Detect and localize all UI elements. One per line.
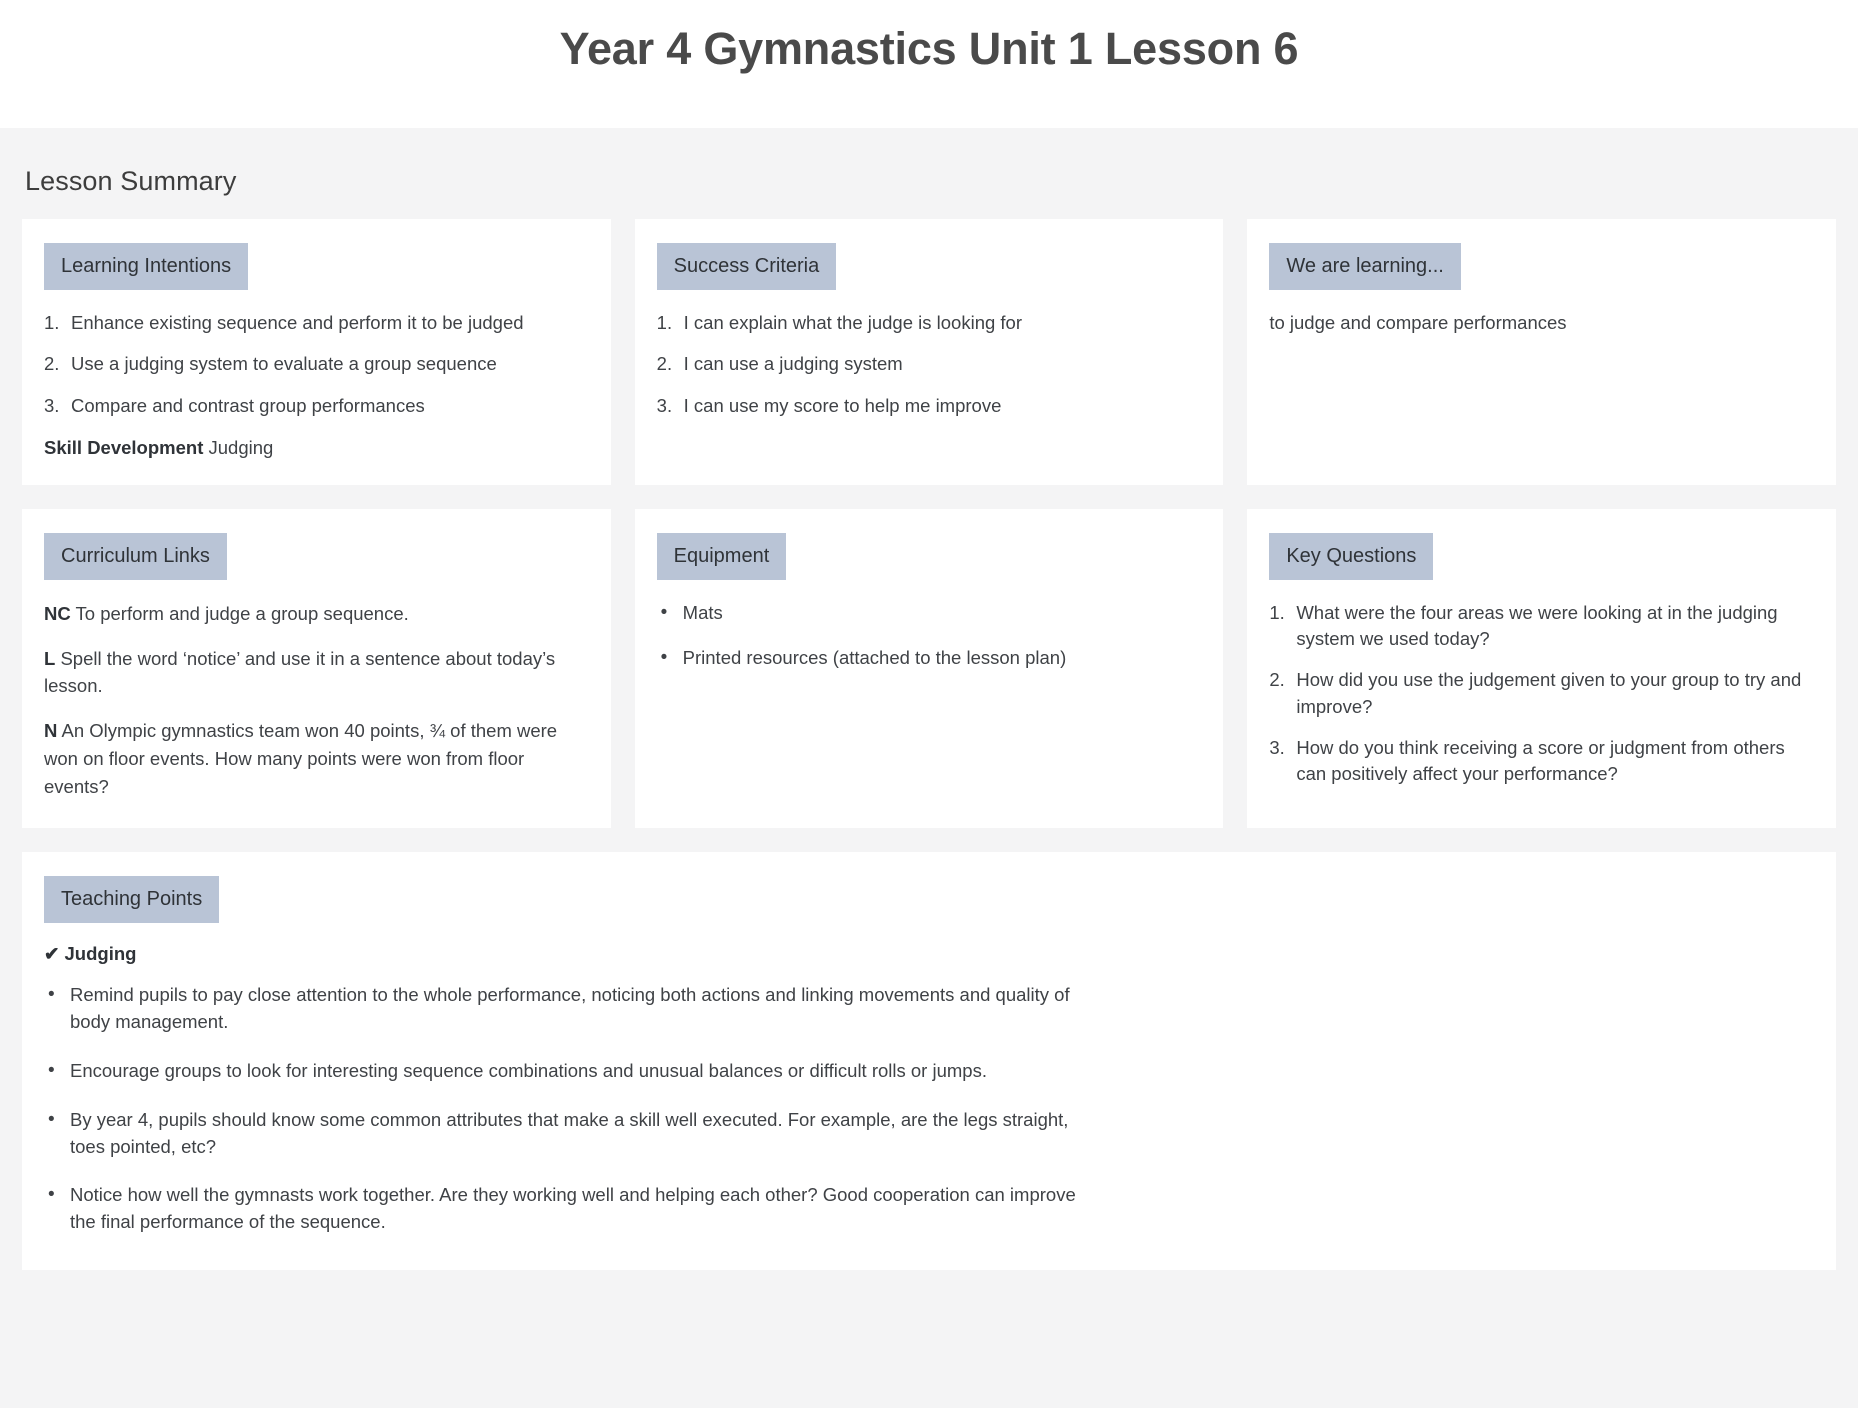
list-item: 2. I can use a judging system <box>657 351 1202 377</box>
list-text: What were the four areas we were looking… <box>1296 602 1777 649</box>
we-are-learning-text: to judge and compare performances <box>1269 310 1814 337</box>
page-title: Year 4 Gymnastics Unit 1 Lesson 6 <box>0 22 1858 76</box>
key-questions-label: Key Questions <box>1269 533 1433 580</box>
we-are-learning-label: We are learning... <box>1269 243 1461 290</box>
list-item: 3. I can use my score to help me improve <box>657 393 1202 419</box>
curriculum-link-text: Spell the word ‘notice’ and use it in a … <box>44 648 555 697</box>
key-questions-list: 1. What were the four areas we were look… <box>1269 600 1814 788</box>
learning-intentions-list: 1. Enhance existing sequence and perform… <box>44 310 589 419</box>
card-key-questions: Key Questions 1. What were the four area… <box>1247 509 1836 829</box>
curriculum-link-text: To perform and judge a group sequence. <box>76 603 409 624</box>
list-text: How do you think receiving a score or ju… <box>1296 737 1784 784</box>
list-item: 3. Compare and contrast group performanc… <box>44 393 589 419</box>
list-item: Remind pupils to pay close attention to … <box>44 982 1084 1036</box>
page-header: Year 4 Gymnastics Unit 1 Lesson 6 <box>0 0 1858 128</box>
list-number: 3. <box>1269 735 1284 761</box>
list-text: Enhance existing sequence and perform it… <box>71 312 524 333</box>
list-number: 3. <box>44 393 59 419</box>
list-item: Printed resources (attached to the lesso… <box>657 645 1202 672</box>
list-item: By year 4, pupils should know some commo… <box>44 1107 1084 1161</box>
list-number: 2. <box>657 351 672 377</box>
list-number: 1. <box>657 310 672 336</box>
learning-intentions-label: Learning Intentions <box>44 243 248 290</box>
skill-development-value: Judging <box>209 437 274 458</box>
curriculum-links-label: Curriculum Links <box>44 533 227 580</box>
list-item: Notice how well the gymnasts work togeth… <box>44 1182 1084 1236</box>
list-item: 1. What were the four areas we were look… <box>1269 600 1814 653</box>
list-text: Compare and contrast group performances <box>71 395 425 416</box>
card-success-criteria: Success Criteria 1. I can explain what t… <box>635 219 1224 485</box>
list-number: 1. <box>44 310 59 336</box>
check-icon: ✔ <box>44 943 60 964</box>
list-item: 2. Use a judging system to evaluate a gr… <box>44 351 589 377</box>
list-item: 3. How do you think receiving a score or… <box>1269 735 1814 788</box>
equipment-label: Equipment <box>657 533 787 580</box>
list-text: I can use a judging system <box>684 353 903 374</box>
curriculum-link-item: L Spell the word ‘notice’ and use it in … <box>44 645 589 701</box>
list-item: 1. Enhance existing sequence and perform… <box>44 310 589 336</box>
summary-grid-row-1: Learning Intentions 1. Enhance existing … <box>22 219 1836 485</box>
list-number: 1. <box>1269 600 1284 626</box>
lesson-summary-section: Lesson Summary Learning Intentions 1. En… <box>0 128 1858 1408</box>
list-number: 3. <box>657 393 672 419</box>
curriculum-link-text: An Olympic gymnastics team won 40 points… <box>44 720 557 797</box>
list-item: 2. How did you use the judgement given t… <box>1269 667 1814 720</box>
card-curriculum-links: Curriculum Links NC To perform and judge… <box>22 509 611 829</box>
list-item: 1. I can explain what the judge is looki… <box>657 310 1202 336</box>
skill-development-label: Skill Development <box>44 437 203 458</box>
skill-development-line: Skill Development Judging <box>44 437 589 459</box>
success-criteria-label: Success Criteria <box>657 243 837 290</box>
card-we-are-learning: We are learning... to judge and compare … <box>1247 219 1836 485</box>
lesson-plan-page: Year 4 Gymnastics Unit 1 Lesson 6 Lesson… <box>0 0 1858 1408</box>
card-teaching-points: Teaching Points ✔Judging Remind pupils t… <box>22 852 1836 1270</box>
curriculum-link-code: NC <box>44 603 71 624</box>
card-learning-intentions: Learning Intentions 1. Enhance existing … <box>22 219 611 485</box>
teaching-points-subheading: ✔Judging <box>44 943 1814 965</box>
teaching-points-label: Teaching Points <box>44 876 219 923</box>
card-equipment: Equipment Mats Printed resources (attach… <box>635 509 1224 829</box>
curriculum-link-code: L <box>44 648 55 669</box>
curriculum-link-code: N <box>44 720 57 741</box>
curriculum-link-item: N An Olympic gymnastics team won 40 poin… <box>44 717 589 800</box>
list-item: Encourage groups to look for interesting… <box>44 1058 1084 1085</box>
curriculum-link-item: NC To perform and judge a group sequence… <box>44 600 589 628</box>
list-text: I can explain what the judge is looking … <box>684 312 1022 333</box>
summary-grid-row-2: Curriculum Links NC To perform and judge… <box>22 509 1836 829</box>
list-number: 2. <box>1269 667 1284 693</box>
list-number: 2. <box>44 351 59 377</box>
lesson-summary-heading: Lesson Summary <box>25 166 1836 197</box>
list-item: Mats <box>657 600 1202 627</box>
success-criteria-list: 1. I can explain what the judge is looki… <box>657 310 1202 419</box>
list-text: I can use my score to help me improve <box>684 395 1002 416</box>
list-text: How did you use the judgement given to y… <box>1296 669 1801 716</box>
list-text: Use a judging system to evaluate a group… <box>71 353 497 374</box>
equipment-list: Mats Printed resources (attached to the … <box>657 600 1202 672</box>
teaching-points-list: Remind pupils to pay close attention to … <box>44 982 1814 1236</box>
teaching-points-subheading-text: Judging <box>65 943 137 964</box>
